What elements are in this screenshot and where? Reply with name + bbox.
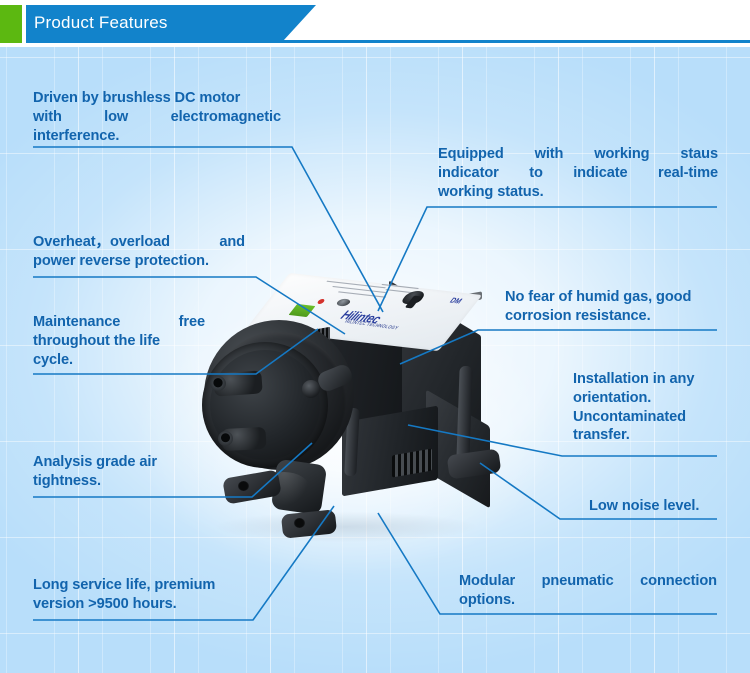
- callout-line: transfer.: [573, 426, 719, 445]
- callout-line: Uncontaminated: [573, 408, 719, 427]
- callout-low-noise: Low noise level.: [589, 497, 719, 516]
- callout-line: options.: [459, 591, 717, 610]
- callout-line: withlowelectromagnetic: [33, 108, 281, 127]
- callout-overheat-protection: Overheat，overloadand power reverse prote…: [33, 233, 245, 271]
- header-rule: [274, 40, 750, 43]
- callout-line: version >9500 hours.: [33, 595, 255, 614]
- callout-line: throughout the life: [33, 332, 205, 351]
- callout-long-service-life: Long service life, premium version >9500…: [33, 576, 255, 614]
- callout-line: tightness.: [33, 472, 213, 491]
- page-title: Product Features: [34, 13, 168, 33]
- callout-line: power reverse protection.: [33, 252, 245, 271]
- callout-modular-connection: Modularpneumaticconnection options.: [459, 572, 717, 610]
- callout-line: Equippedwithworkingstaus: [438, 145, 718, 164]
- callout-line: Modularpneumaticconnection: [459, 572, 717, 591]
- callout-line: working status.: [438, 183, 718, 202]
- callout-maintenance-free: Maintenancefree throughout the life cycl…: [33, 313, 205, 369]
- callout-line: interference.: [33, 127, 281, 146]
- callout-line: indicatortoindicatereal-time: [438, 164, 718, 183]
- callout-line: Driven by brushless DC motor: [33, 89, 281, 108]
- callout-any-orientation: Installation in any orientation. Unconta…: [573, 370, 719, 445]
- callout-line: Low noise level.: [589, 497, 719, 516]
- callout-working-status-indicator: Equippedwithworkingstaus indicatortoindi…: [438, 145, 718, 201]
- callout-brushless-dc-motor: Driven by brushless DC motor withlowelec…: [33, 89, 281, 145]
- callout-line: orientation.: [573, 389, 719, 408]
- callout-line: Maintenancefree: [33, 313, 205, 332]
- leader-brushless-dc-motor: [33, 147, 383, 312]
- callout-line: Overheat，overloadand: [33, 233, 245, 252]
- callout-line: cycle.: [33, 351, 205, 370]
- callout-line: Long service life, premium: [33, 576, 255, 595]
- header-band: Product Features: [0, 0, 750, 47]
- leader-corrosion-resistance: [400, 330, 717, 364]
- callout-line: No fear of humid gas, good: [505, 288, 717, 307]
- callout-line: corrosion resistance.: [505, 307, 717, 326]
- product-features-page: Product Features Hilintec HILINTEC TECHN…: [0, 0, 750, 673]
- callout-line: Installation in any: [573, 370, 719, 389]
- callout-air-tightness: Analysis grade air tightness.: [33, 453, 213, 491]
- header-green-accent: [0, 5, 22, 43]
- callout-corrosion-resistance: No fear of humid gas, good corrosion res…: [505, 288, 717, 326]
- callout-line: Analysis grade air: [33, 453, 213, 472]
